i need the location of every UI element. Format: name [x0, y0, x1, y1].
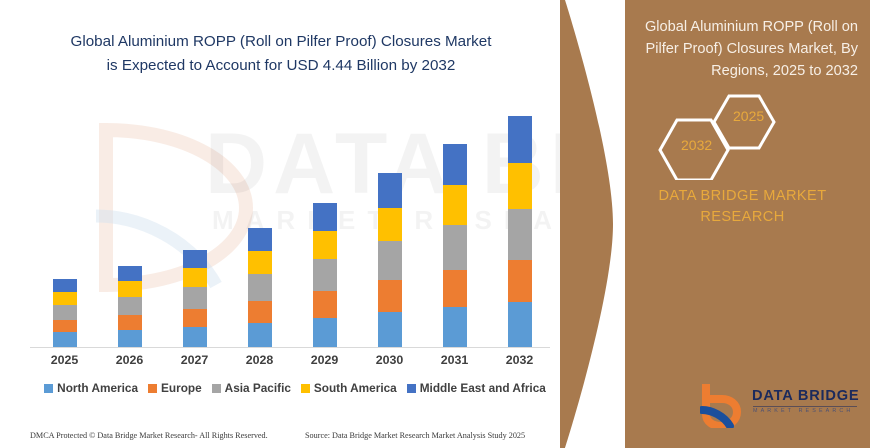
bar-segment [443, 185, 467, 225]
bar-segment [183, 268, 207, 287]
legend-swatch-icon [212, 384, 221, 393]
bar-segment [508, 116, 532, 163]
right-panel-brand: DATA BRIDGE MARKET RESEARCH [620, 186, 865, 227]
bar-segment [248, 228, 272, 251]
right-panel-heading-line-1: Global Aluminium ROPP (Roll on [612, 16, 858, 38]
data-bridge-logo: DATA BRIDGE MARKET RESEARCH [700, 382, 860, 430]
bar-segment [118, 330, 142, 347]
bar-segment [248, 323, 272, 347]
bar-segment [118, 315, 142, 330]
x-axis-tick-2032: 2032 [490, 353, 550, 367]
x-axis-tick-2027: 2027 [165, 353, 225, 367]
bar-segment [443, 307, 467, 347]
legend-swatch-icon [407, 384, 416, 393]
x-axis-tick-2028: 2028 [230, 353, 290, 367]
bar-segment [53, 320, 77, 332]
bar-segment [443, 144, 467, 185]
bar-segment [53, 279, 77, 292]
x-axis-tick-2031: 2031 [425, 353, 485, 367]
legend-item[interactable]: South America [301, 381, 397, 395]
legend-item[interactable]: Europe [148, 381, 202, 395]
bar-segment [443, 225, 467, 270]
bar-2026 [118, 266, 142, 347]
legend-label: North America [57, 381, 138, 395]
x-axis-tick-2025: 2025 [35, 353, 95, 367]
data-bridge-logo-rule [753, 406, 857, 407]
bar-2030 [378, 173, 402, 347]
chart-title-line-1: Global Aluminium ROPP (Roll on Pilfer Pr… [26, 30, 536, 54]
bar-segment [508, 302, 532, 347]
bar-segment [53, 292, 77, 305]
bar-segment [118, 281, 142, 297]
brand-line-2: RESEARCH [620, 207, 865, 228]
bar-segment [313, 203, 337, 231]
bar-segment [508, 163, 532, 209]
bar-segment [53, 305, 77, 320]
chart-title-line-2: is Expected to Account for USD 4.44 Bill… [26, 54, 536, 78]
legend-label: Asia Pacific [225, 381, 291, 395]
bar-chart-plot [30, 100, 550, 348]
footer: DMCA Protected © Data Bridge Market Rese… [0, 425, 565, 445]
bar-segment [118, 266, 142, 282]
data-bridge-logo-mark-icon [700, 384, 746, 428]
bar-segment [313, 318, 337, 347]
right-panel-heading-line-2: Pilfer Proof) Closures Market, By [612, 38, 858, 60]
x-axis-tick-2026: 2026 [100, 353, 160, 367]
bar-segment [183, 287, 207, 308]
bar-segment [248, 251, 272, 274]
legend-label: Europe [161, 381, 202, 395]
right-panel-heading: Global Aluminium ROPP (Roll on Pilfer Pr… [612, 16, 858, 83]
legend-swatch-icon [44, 384, 53, 393]
bar-segment [378, 173, 402, 207]
legend-swatch-icon [301, 384, 310, 393]
chart-baseline [30, 347, 550, 348]
x-axis-tick-2030: 2030 [360, 353, 420, 367]
bar-segment [313, 231, 337, 259]
hexagon-badges: 2025 2032 [655, 92, 835, 180]
hexagon-outlines-icon [655, 92, 835, 180]
bar-segment [378, 280, 402, 312]
bar-2027 [183, 250, 207, 347]
bar-segment [313, 259, 337, 291]
bar-segment [248, 274, 272, 301]
legend-swatch-icon [148, 384, 157, 393]
bar-segment [183, 309, 207, 327]
data-bridge-logo-wordmark: DATA BRIDGE [752, 388, 859, 404]
bar-segment [508, 260, 532, 302]
bar-segment [53, 332, 77, 347]
hexagon-label-start-year: 2025 [733, 108, 764, 124]
bar-segment [118, 297, 142, 315]
data-bridge-logo-tagline: MARKET RESEARCH [753, 408, 853, 414]
bar-segment [313, 291, 337, 318]
bar-segment [378, 312, 402, 347]
bar-2025 [53, 279, 77, 347]
legend-label: South America [314, 381, 397, 395]
bar-segment [378, 208, 402, 242]
bar-2032 [508, 116, 532, 347]
right-panel-heading-line-3: Regions, 2025 to 2032 [612, 60, 858, 82]
legend-item[interactable]: North America [44, 381, 138, 395]
bar-segment [248, 301, 272, 323]
footer-dmca-text: DMCA Protected © Data Bridge Market Rese… [30, 431, 268, 440]
bar-segment [183, 250, 207, 269]
bar-segment [183, 327, 207, 347]
bar-segment [378, 241, 402, 280]
bar-2031 [443, 144, 467, 347]
chart-x-axis: 20252026202720282029203020312032 [30, 353, 550, 373]
legend-label: Middle East and Africa [420, 381, 546, 395]
chart-title: Global Aluminium ROPP (Roll on Pilfer Pr… [26, 30, 536, 77]
bar-segment [508, 209, 532, 260]
legend-item[interactable]: Middle East and Africa [407, 381, 546, 395]
bar-2029 [313, 203, 337, 347]
chart-legend: North AmericaEuropeAsia PacificSouth Ame… [30, 381, 560, 395]
legend-item[interactable]: Asia Pacific [212, 381, 291, 395]
brand-line-1: DATA BRIDGE MARKET [620, 186, 865, 207]
hexagon-label-end-year: 2032 [681, 137, 712, 153]
bar-2028 [248, 228, 272, 347]
bar-segment [443, 270, 467, 307]
infographic-root: DATA BRIDGE MARKET RESEARCH Global Alumi… [0, 0, 870, 448]
footer-source-text: Source: Data Bridge Market Research Mark… [305, 431, 525, 440]
x-axis-tick-2029: 2029 [295, 353, 355, 367]
